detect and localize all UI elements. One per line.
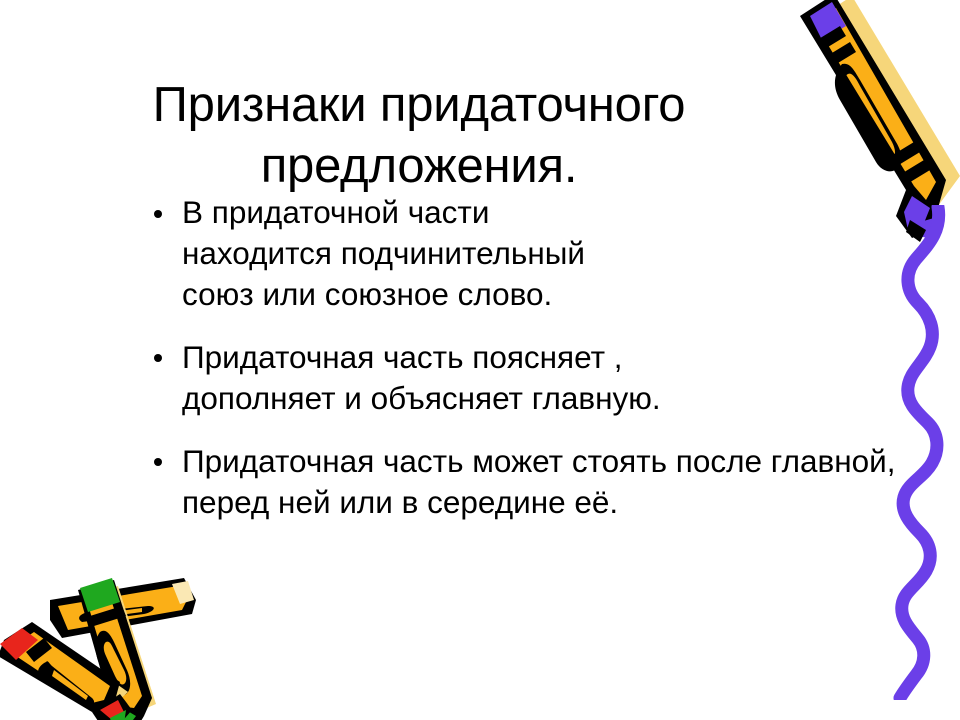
list-item-text: В придаточной части находится подчинител… xyxy=(182,194,585,312)
list-item: Придаточная часть поясняет , дополняет и… xyxy=(150,337,742,419)
bullet-dot-icon xyxy=(154,354,162,362)
bullet-dot-icon xyxy=(154,210,162,218)
list-item: Придаточная часть может стоять после гла… xyxy=(150,441,922,523)
bullet-dot-icon xyxy=(154,458,162,466)
list-item-text: Придаточная часть может стоять после гла… xyxy=(182,443,895,520)
bullet-list: В придаточной части находится подчинител… xyxy=(150,192,890,523)
crossed-crayons-icon xyxy=(0,556,226,720)
list-item-text: Придаточная часть поясняет , дополняет и… xyxy=(182,339,661,416)
slide-title: Признаки придаточного предложения. xyxy=(64,75,774,197)
slide-canvas: Признаки придаточного предложения. В при… xyxy=(0,0,960,720)
list-item: В придаточной части находится подчинител… xyxy=(150,192,602,315)
